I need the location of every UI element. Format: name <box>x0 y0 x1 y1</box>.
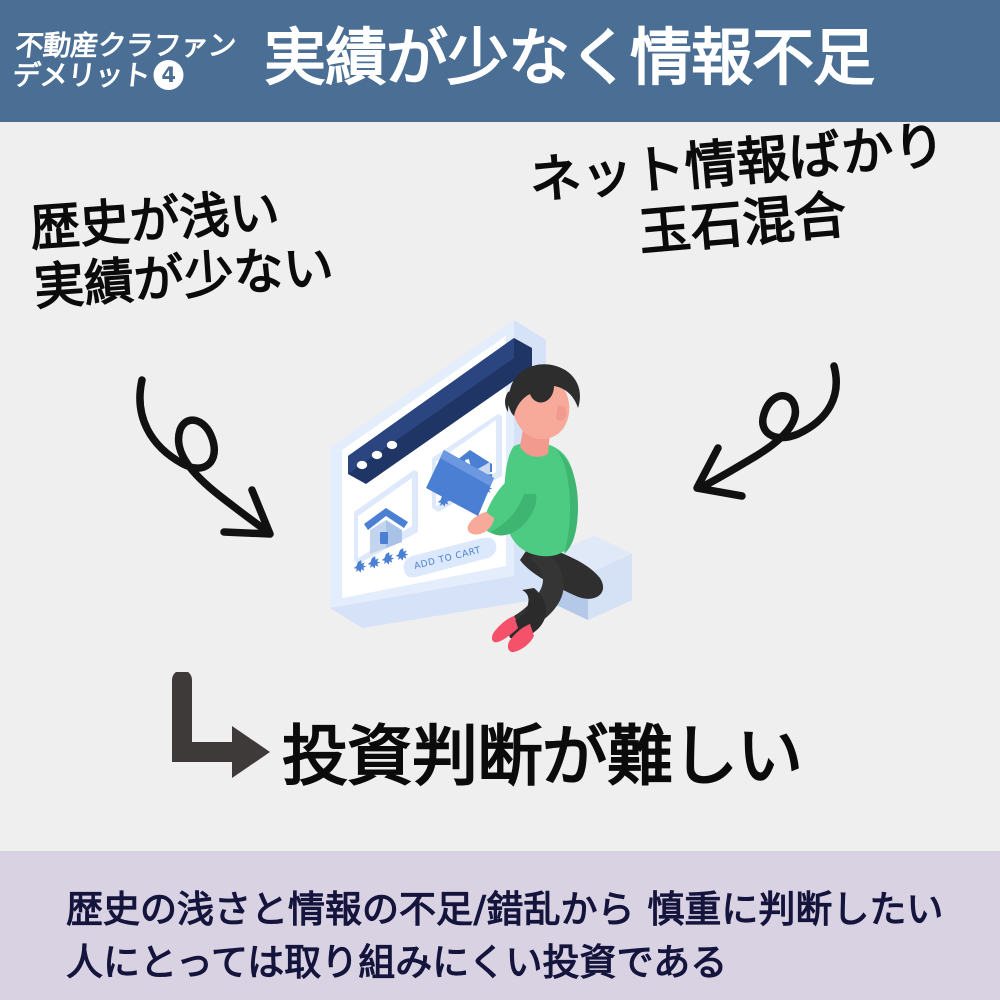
callout-right: ネット情報ばかり 玉石混合 <box>527 116 953 275</box>
looped-arrow-right-icon <box>658 338 858 527</box>
circled-number-badge: 4 <box>153 61 183 91</box>
header-band: 不動産クラファン デメリット 4 実績が少なく情報不足 <box>0 0 1000 122</box>
header-kicker-line1: 不動産クラファン <box>14 31 237 60</box>
callout-left: 歴史が浅い 実績が少ない <box>28 179 336 318</box>
footer-banner: 歴史の浅さと情報の不足/錯乱から 慎重に判断したい 人にとっては取り組みにくい投… <box>0 851 1000 1000</box>
header-kicker-line2: デメリット 4 <box>11 61 234 91</box>
header-kicker-line2-text: デメリット <box>11 61 152 90</box>
footer-line-1: 歴史の浅さと情報の不足/錯乱から 慎重に判断したい <box>66 884 1000 937</box>
looped-arrow-left-icon <box>128 368 318 577</box>
conclusion-row: 投資判断が難しい <box>168 672 802 790</box>
corner-down-right-arrow-icon <box>168 672 274 784</box>
page-title: 実績が少なく情報不足 <box>264 27 874 95</box>
conclusion-text: 投資判断が難しい <box>282 724 802 790</box>
header-kicker: 不動産クラファン デメリット 4 <box>11 31 237 90</box>
footer-line-2: 人にとっては取り組みにくい投資である <box>66 937 1000 990</box>
illustration-ecommerce-browsing: ADD TO CART <box>318 298 658 664</box>
